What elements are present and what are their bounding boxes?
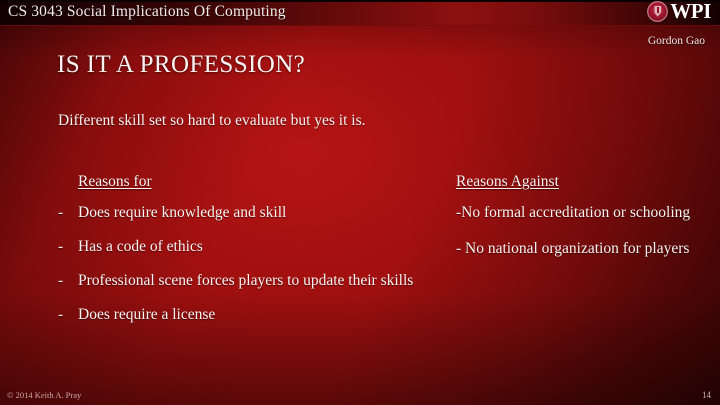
slide-canvas: CS 3043 Social Implications Of Computing… [0,0,720,405]
column-reasons-for: Reasons for - Does require knowledge and… [58,172,458,339]
list-item: - Does require a license [58,305,458,325]
footer-page-number: 14 [702,390,711,400]
footer-copyright: © 2014 Keith A. Pray [7,390,81,400]
wpi-wordmark: WPI [670,1,711,22]
list-item-text: Has a code of ethics [78,237,458,257]
list-item: - Does require knowledge and skill [58,203,458,223]
list-item-text: Does require a license [78,305,458,325]
header-bar: CS 3043 Social Implications Of Computing… [0,0,720,26]
list-item: -No formal accreditation or schooling [456,203,706,223]
header-top-rule [0,0,720,2]
bullet-marker-icon: - [58,271,78,291]
column-heading-reasons-for: Reasons for [78,172,152,192]
bullet-marker-icon: - [58,237,78,257]
list-item: - Professional scene forces players to u… [58,271,458,291]
intro-text: Different skill set so hard to evaluate … [58,111,366,131]
bullet-marker-icon: - [58,305,78,325]
wpi-seal-icon [647,1,668,22]
list-item-text: Professional scene forces players to upd… [78,271,458,291]
slide-title: IS IT A PROFESSION? [57,50,305,79]
list-item: - No national organization for players [456,239,706,259]
author-name: Gordon Gao [648,35,705,47]
column-heading-reasons-against: Reasons Against [456,172,559,192]
column-reasons-against: Reasons Against -No formal accreditation… [456,172,706,275]
bullet-marker-icon: - [58,203,78,223]
list-item-text: Does require knowledge and skill [78,203,458,223]
list-item: - Has a code of ethics [58,237,458,257]
wpi-logo: WPI [647,1,711,22]
course-title: CS 3043 Social Implications Of Computing [8,3,286,21]
